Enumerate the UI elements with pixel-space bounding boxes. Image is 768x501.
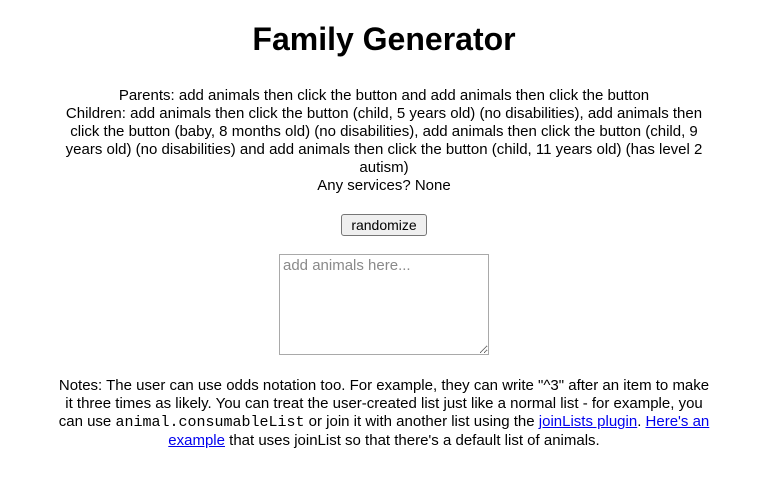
description-line-parents: Parents: add animals then click the butt…	[56, 87, 712, 105]
description-line-children: Children: add animals then click the but…	[66, 105, 703, 176]
family-description: Parents: add animals then click the butt…	[56, 87, 712, 195]
page-container: Family Generator Parents: add animals th…	[0, 21, 768, 450]
notes-text-part3: that uses joinList so that there's a def…	[225, 432, 600, 449]
textarea-row	[56, 254, 712, 355]
notes-paragraph: Notes: The user can use odds notation to…	[56, 377, 712, 450]
consumable-list-code: animal.consumableList	[115, 414, 304, 431]
add-animals-textarea[interactable]	[279, 254, 489, 355]
description-line-services: Any services? None	[56, 177, 712, 195]
randomize-button[interactable]: randomize	[341, 214, 426, 236]
notes-separator: .	[637, 413, 645, 430]
join-lists-plugin-link[interactable]: joinLists plugin	[539, 413, 637, 430]
page-title: Family Generator	[56, 21, 712, 58]
notes-text-part2: or join it with another list using the	[304, 413, 538, 430]
button-row: randomize	[56, 214, 712, 236]
